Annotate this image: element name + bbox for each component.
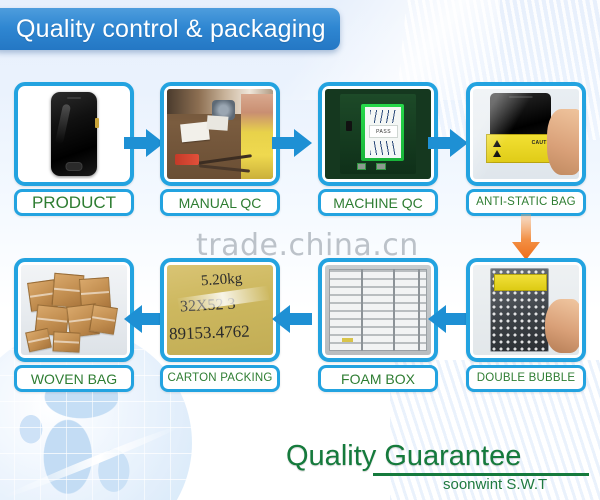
manual-qc-photo [167,89,273,179]
machine-qc-pass-text: PASS [369,125,398,138]
step-card-foam-box[interactable]: FOAM BOX [318,258,438,392]
step-card-manual-qc[interactable]: MANUAL QC [160,82,280,216]
flow-row-2: WOVEN BAG 5.20kg 32X52 3 89153.4762 CART… [0,258,600,398]
anti-static-bag-photo-frame: CAUTION [466,82,586,186]
machine-qc-photo-frame: PASS [318,82,438,186]
step-label-text: MACHINE QC [333,196,422,210]
carton-text-line-3: 89153.4762 [169,321,250,344]
step-label-anti-static-bag: ANTI-STATIC BAG [466,189,586,216]
step-card-anti-static-bag[interactable]: CAUTION ANTI-STATIC BAG [466,82,586,216]
page-title: Quality control & packaging [0,15,326,44]
step-label-double-bubble: DOUBLE BUBBLE [466,365,586,392]
woven-bag-photo [21,265,127,355]
step-card-product[interactable]: PRODUCT [14,82,134,216]
arrow-product-to-manual [124,128,164,158]
phone-product-photo [21,89,127,179]
arrow-machine-to-antistatic [428,128,468,158]
arrow-foam-to-carton [272,304,312,334]
step-label-text: DOUBLE BUBBLE [477,373,575,385]
arrow-manual-to-machine [272,128,312,158]
step-label-manual-qc: MANUAL QC [160,189,280,216]
step-label-woven-bag: WOVEN BAG [14,365,134,392]
step-card-double-bubble[interactable]: DOUBLE BUBBLE [466,258,586,392]
double-bubble-photo-frame [466,258,586,362]
step-label-product: PRODUCT [14,189,134,216]
anti-static-bag-photo: CAUTION [473,89,579,179]
carton-text-line-1: 5.20kg [200,271,242,291]
foam-box-photo-frame [318,258,438,362]
footer-title: Quality Guarantee [286,440,521,473]
step-label-carton-packing: CARTON PACKING [160,365,280,392]
double-bubble-photo [473,265,579,355]
carton-packing-photo-frame: 5.20kg 32X52 3 89153.4762 [160,258,280,362]
step-label-text: ANTI-STATIC BAG [476,197,576,209]
flow-row-1: PRODUCT MANUAL QC [0,82,600,222]
step-card-carton-packing[interactable]: 5.20kg 32X52 3 89153.4762 CARTON PACKING [160,258,280,392]
carton-packing-photo: 5.20kg 32X52 3 89153.4762 [167,265,273,355]
step-label-text: MANUAL QC [179,196,262,210]
manual-qc-photo-frame [160,82,280,186]
arrow-double-to-foam [428,304,468,334]
woven-bag-photo-frame [14,258,134,362]
step-label-text: WOVEN BAG [31,372,117,386]
step-card-machine-qc[interactable]: PASS MACHINE QC [318,82,438,216]
arrow-antistatic-to-double [511,214,541,260]
product-photo-frame [14,82,134,186]
step-label-foam-box: FOAM BOX [318,365,438,392]
machine-qc-photo: PASS [325,89,431,179]
step-card-woven-bag[interactable]: WOVEN BAG [14,258,134,392]
step-label-text: PRODUCT [32,194,116,211]
footer-subtitle: soonwint S.W.T [443,476,547,493]
header-banner: Quality control & packaging [0,8,340,50]
step-label-machine-qc: MACHINE QC [318,189,438,216]
step-label-text: FOAM BOX [341,372,415,386]
foam-box-photo [325,265,431,355]
arrow-carton-to-woven [124,304,164,334]
step-label-text: CARTON PACKING [167,373,272,385]
quality-control-infographic: Quality control & packaging PRODUCT [0,0,600,500]
